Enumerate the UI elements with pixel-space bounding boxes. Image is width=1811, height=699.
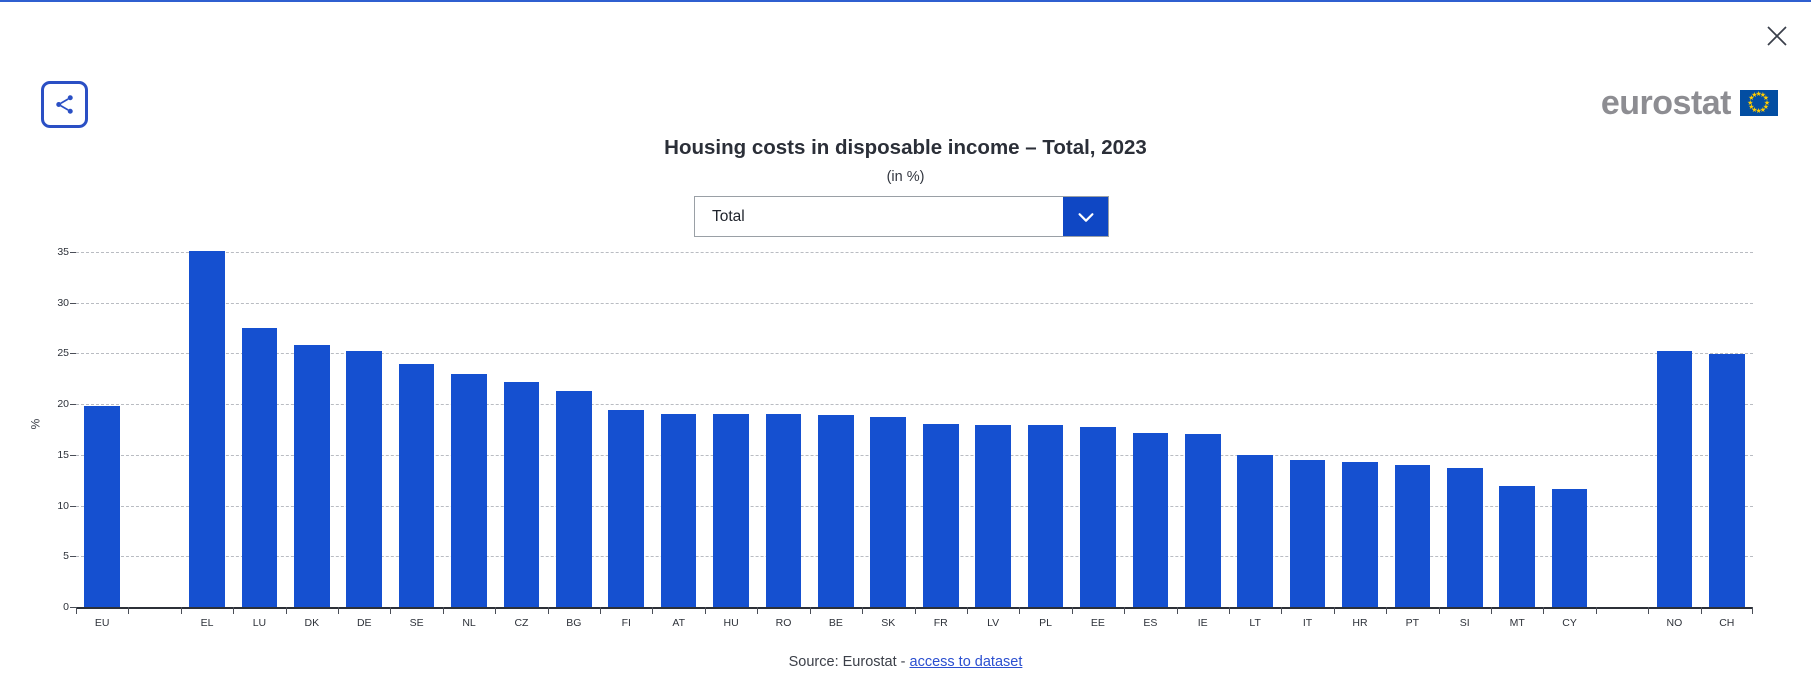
x-tick-label: CH xyxy=(1701,617,1753,629)
bar-slot xyxy=(757,252,809,607)
y-tick-label: 30 xyxy=(57,297,69,309)
x-tick-slot xyxy=(128,607,180,629)
x-tick-label: BG xyxy=(548,617,600,629)
bar-slot xyxy=(1701,252,1753,607)
bar[interactable] xyxy=(1657,351,1693,607)
y-tick-label: 5 xyxy=(63,550,69,562)
x-tick-label: MT xyxy=(1491,617,1543,629)
x-tick-mark xyxy=(338,607,339,614)
x-tick-mark xyxy=(1334,607,1335,614)
bar[interactable] xyxy=(189,251,225,607)
indicator-select-toggle[interactable] xyxy=(1063,197,1108,236)
x-tick-slot: NO xyxy=(1648,607,1700,629)
bar-slot xyxy=(652,252,704,607)
x-tick-label: HR xyxy=(1334,617,1386,629)
y-tick-label: 10 xyxy=(57,500,69,512)
bar[interactable] xyxy=(661,414,697,607)
x-tick-mark xyxy=(1648,607,1649,614)
chevron-down-icon xyxy=(1075,206,1097,228)
x-tick-mark xyxy=(1439,607,1440,614)
x-tick-slot: DE xyxy=(338,607,390,629)
x-tick-label: EE xyxy=(1072,617,1124,629)
bar-slot xyxy=(390,252,442,607)
close-button[interactable] xyxy=(1757,16,1797,56)
x-tick-slot: LV xyxy=(967,607,1019,629)
x-tick-mark xyxy=(757,607,758,614)
bar-slot xyxy=(915,252,967,607)
x-tick-label: DE xyxy=(338,617,390,629)
bar-slot xyxy=(1177,252,1229,607)
x-tick-slot: EL xyxy=(181,607,233,629)
indicator-select-value[interactable]: Total xyxy=(695,197,1063,236)
bar-slot xyxy=(1648,252,1700,607)
x-tick-label: NO xyxy=(1648,617,1700,629)
bar[interactable] xyxy=(451,374,487,607)
x-tick-label: NL xyxy=(443,617,495,629)
y-tick-label: 35 xyxy=(57,246,69,258)
x-tick-mark xyxy=(1019,607,1020,614)
x-tick-mark xyxy=(548,607,549,614)
bar[interactable] xyxy=(608,410,644,607)
bar-slot xyxy=(1439,252,1491,607)
x-tick-slot: AT xyxy=(652,607,704,629)
bar-slot xyxy=(1072,252,1124,607)
page-subtitle: (in %) xyxy=(0,169,1811,185)
bar-slot xyxy=(1334,252,1386,607)
bar[interactable] xyxy=(242,328,278,607)
bar[interactable] xyxy=(1552,489,1588,607)
x-tick-label: SE xyxy=(390,617,442,629)
x-tick-label: SK xyxy=(862,617,914,629)
x-tick-label: HU xyxy=(705,617,757,629)
x-tick-mark xyxy=(967,607,968,614)
bar[interactable] xyxy=(1342,462,1378,607)
bar[interactable] xyxy=(84,406,120,607)
y-tick-label: 25 xyxy=(57,347,69,359)
x-tick-slot: PL xyxy=(1019,607,1071,629)
x-tick-mark xyxy=(390,607,391,614)
x-tick-mark xyxy=(600,607,601,614)
x-tick-mark xyxy=(705,607,706,614)
bar-slot xyxy=(443,252,495,607)
bar[interactable] xyxy=(504,382,540,607)
x-tick-slot: MT xyxy=(1491,607,1543,629)
x-tick-mark xyxy=(862,607,863,614)
x-tick-slot: EU xyxy=(76,607,128,629)
x-tick-slot: EE xyxy=(1072,607,1124,629)
bar[interactable] xyxy=(1185,434,1221,607)
bar[interactable] xyxy=(294,345,330,607)
x-tick-label: BE xyxy=(810,617,862,629)
x-tick-mark xyxy=(76,607,77,614)
x-tick-slot: HR xyxy=(1334,607,1386,629)
dataset-link[interactable]: access to dataset xyxy=(910,654,1023,670)
x-tick-mark xyxy=(652,607,653,614)
bar[interactable] xyxy=(399,364,435,607)
x-tick-slot: RO xyxy=(757,607,809,629)
bar[interactable] xyxy=(1709,354,1745,607)
x-tick-label: PT xyxy=(1386,617,1438,629)
chart-plot-area: 05101520253035 EUELLUDKDESENLCZBGFIATHUR… xyxy=(76,252,1753,607)
x-tick-label: PL xyxy=(1019,617,1071,629)
bar[interactable] xyxy=(766,414,802,607)
x-tick-slot: ES xyxy=(1124,607,1176,629)
bar-slot xyxy=(1386,252,1438,607)
x-tick-label: IT xyxy=(1281,617,1333,629)
x-tick-label: RO xyxy=(757,617,809,629)
bar-slot xyxy=(181,252,233,607)
bar-slot xyxy=(338,252,390,607)
x-tick-label: LU xyxy=(233,617,285,629)
y-tick-label: 20 xyxy=(57,398,69,410)
x-tick-label: CY xyxy=(1543,617,1595,629)
y-axis-label: % xyxy=(28,419,42,430)
bar[interactable] xyxy=(870,417,906,607)
source-text: Source: Eurostat - xyxy=(789,654,910,670)
x-tick-label: AT xyxy=(652,617,704,629)
page-title: Housing costs in disposable income – Tot… xyxy=(0,136,1811,160)
x-tick-label: FI xyxy=(600,617,652,629)
x-tick-mark xyxy=(1229,607,1230,614)
bar[interactable] xyxy=(713,414,749,607)
bar[interactable] xyxy=(1395,465,1431,607)
chart-footer: Source: Eurostat - access to dataset xyxy=(0,654,1811,670)
bar-slot xyxy=(1281,252,1333,607)
x-tick-mark xyxy=(1281,607,1282,614)
bar-slot xyxy=(1124,252,1176,607)
bar-slot xyxy=(286,252,338,607)
bar[interactable] xyxy=(1290,460,1326,607)
x-tick-slot: NL xyxy=(443,607,495,629)
y-tick-label: 15 xyxy=(57,449,69,461)
bar[interactable] xyxy=(1028,425,1064,607)
eurostat-logo: eurostat ★★★★★★★★★★★★ xyxy=(1601,86,1778,120)
bar-slot xyxy=(1596,252,1648,607)
x-tick-slot: FR xyxy=(915,607,967,629)
bar-slot xyxy=(1229,252,1281,607)
x-tick-mark xyxy=(233,607,234,614)
bar-slot xyxy=(548,252,600,607)
bar-slot xyxy=(1019,252,1071,607)
bar-slot xyxy=(76,252,128,607)
x-tick-label: FR xyxy=(915,617,967,629)
bar-slot xyxy=(810,252,862,607)
eu-flag-icon: ★★★★★★★★★★★★ xyxy=(1740,90,1778,116)
x-tick-label: LV xyxy=(967,617,1019,629)
x-tick-slot: SE xyxy=(390,607,442,629)
x-tick-label: LT xyxy=(1229,617,1281,629)
x-tick-slot: SK xyxy=(862,607,914,629)
x-tick-slot: BG xyxy=(548,607,600,629)
bar-slot xyxy=(862,252,914,607)
bar-slot xyxy=(495,252,547,607)
close-icon xyxy=(1765,24,1789,48)
x-tick-mark xyxy=(915,607,916,614)
x-tick-mark xyxy=(1701,607,1702,614)
x-tick-slot: SI xyxy=(1439,607,1491,629)
bar[interactable] xyxy=(346,351,382,607)
bar[interactable] xyxy=(1447,468,1483,607)
x-tick-mark xyxy=(495,607,496,614)
x-tick-slot: IT xyxy=(1281,607,1333,629)
bar[interactable] xyxy=(818,415,854,607)
x-tick-label: CZ xyxy=(495,617,547,629)
x-tick-mark xyxy=(128,607,129,614)
x-axis-ticks: EUELLUDKDESENLCZBGFIATHUROBESKFRLVPLEEES… xyxy=(76,607,1753,629)
bar-slot xyxy=(705,252,757,607)
bar-slot xyxy=(1543,252,1595,607)
y-tick-label: 0 xyxy=(63,601,69,613)
brand-name: eurostat xyxy=(1601,86,1731,120)
bar-slot xyxy=(967,252,1019,607)
x-tick-mark xyxy=(443,607,444,614)
x-tick-slot: CZ xyxy=(495,607,547,629)
x-tick-mark xyxy=(1386,607,1387,614)
x-tick-mark xyxy=(1491,607,1492,614)
x-tick-slot: BE xyxy=(810,607,862,629)
x-tick-slot: PT xyxy=(1386,607,1438,629)
x-tick-slot: CY xyxy=(1543,607,1595,629)
x-tick-label: DK xyxy=(286,617,338,629)
bar[interactable] xyxy=(1080,427,1116,607)
bar[interactable] xyxy=(556,391,592,607)
x-tick-mark xyxy=(181,607,182,614)
x-tick-mark xyxy=(286,607,287,614)
bar[interactable] xyxy=(923,424,959,607)
bar-slot xyxy=(128,252,180,607)
x-tick-label: IE xyxy=(1177,617,1229,629)
bar[interactable] xyxy=(1133,433,1169,607)
share-icon xyxy=(53,93,76,116)
bar-slot xyxy=(1491,252,1543,607)
bar-series xyxy=(76,252,1753,607)
x-tick-mark xyxy=(1124,607,1125,614)
chart-page: eurostat ★★★★★★★★★★★★ Housing costs in d… xyxy=(0,0,1811,699)
x-tick-mark xyxy=(810,607,811,614)
indicator-select[interactable]: Total xyxy=(694,196,1109,237)
x-tick-slot: DK xyxy=(286,607,338,629)
x-tick-mark xyxy=(1543,607,1544,614)
x-tick-slot: HU xyxy=(705,607,757,629)
x-tick-mark xyxy=(1596,607,1597,614)
bar-slot xyxy=(233,252,285,607)
x-tick-slot: IE xyxy=(1177,607,1229,629)
x-tick-slot: FI xyxy=(600,607,652,629)
x-tick-slot: LT xyxy=(1229,607,1281,629)
bar-slot xyxy=(600,252,652,607)
x-tick-mark xyxy=(1177,607,1178,614)
bar[interactable] xyxy=(975,425,1011,607)
x-tick-label: SI xyxy=(1439,617,1491,629)
bar[interactable] xyxy=(1237,455,1273,607)
x-tick-slot: LU xyxy=(233,607,285,629)
x-tick-label: EU xyxy=(76,617,128,629)
x-tick-label: EL xyxy=(181,617,233,629)
x-tick-mark xyxy=(1072,607,1073,614)
x-tick-label: ES xyxy=(1124,617,1176,629)
share-button[interactable] xyxy=(41,81,88,128)
x-tick-slot xyxy=(1596,607,1648,629)
bar[interactable] xyxy=(1499,486,1535,607)
x-tick-slot: CH xyxy=(1701,607,1753,629)
x-tick-mark xyxy=(1752,607,1753,614)
